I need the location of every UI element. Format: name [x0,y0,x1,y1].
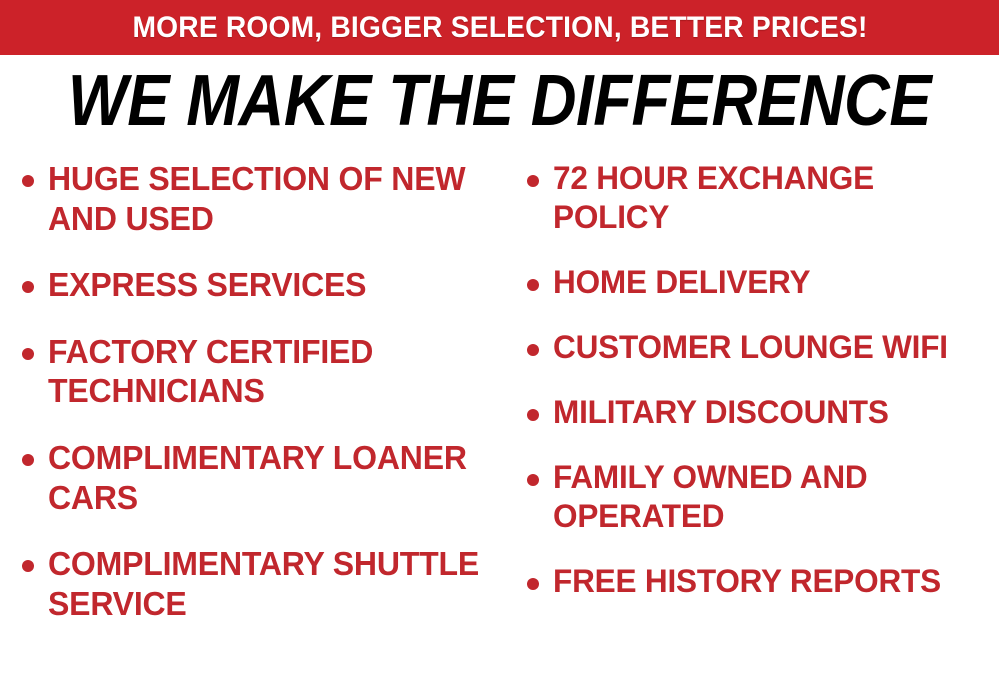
list-item: HUGE SELECTION OF NEW AND USED [14,159,505,238]
list-item: EXPRESS SERVICES [14,265,505,305]
page-title: WE MAKE THE DIFFERENCE [68,65,931,137]
list-item: HOME DELIVERY [519,263,999,302]
list-item: COMPLIMENTARY LOANER CARS [14,438,505,517]
features-column-left: HUGE SELECTION OF NEW AND USED EXPRESS S… [0,147,505,650]
list-item-label: EXPRESS SERVICES [48,265,366,305]
bullet-dot-icon [22,281,34,293]
bullet-dot-icon [527,474,539,486]
bullet-dot-icon [527,578,539,590]
bullet-dot-icon [22,454,34,466]
list-item-label: FAMILY OWNED AND OPERATED [553,458,986,536]
bullet-dot-icon [22,560,34,572]
list-item: FREE HISTORY REPORTS [519,562,999,601]
bullet-dot-icon [22,348,34,360]
headline-container: WE MAKE THE DIFFERENCE [0,55,999,147]
list-item-label: CUSTOMER LOUNGE WIFI [553,328,948,367]
promo-banner-text: MORE ROOM, BIGGER SELECTION, BETTER PRIC… [132,11,867,45]
promo-banner: MORE ROOM, BIGGER SELECTION, BETTER PRIC… [0,0,999,55]
list-item-label: FACTORY CERTIFIED TECHNICIANS [48,332,491,411]
list-item-label: COMPLIMENTARY SHUTTLE SERVICE [48,544,491,623]
list-item: CUSTOMER LOUNGE WIFI [519,328,999,367]
list-item-label: FREE HISTORY REPORTS [553,562,941,601]
list-item: 72 HOUR EXCHANGE POLICY [519,159,999,237]
list-item-label: 72 HOUR EXCHANGE POLICY [553,159,986,237]
list-item-label: MILITARY DISCOUNTS [553,393,889,432]
bullet-dot-icon [527,279,539,291]
list-item-label: HOME DELIVERY [553,263,810,302]
list-item: COMPLIMENTARY SHUTTLE SERVICE [14,544,505,623]
list-item: MILITARY DISCOUNTS [519,393,999,432]
features-column-right: 72 HOUR EXCHANGE POLICY HOME DELIVERY CU… [505,147,999,627]
bullet-dot-icon [22,175,34,187]
bullet-dot-icon [527,175,539,187]
list-item: FAMILY OWNED AND OPERATED [519,458,999,536]
list-item: FACTORY CERTIFIED TECHNICIANS [14,332,505,411]
list-item-label: HUGE SELECTION OF NEW AND USED [48,159,491,238]
bullet-dot-icon [527,409,539,421]
features-columns: HUGE SELECTION OF NEW AND USED EXPRESS S… [0,147,999,650]
list-item-label: COMPLIMENTARY LOANER CARS [48,438,491,517]
bullet-dot-icon [527,344,539,356]
